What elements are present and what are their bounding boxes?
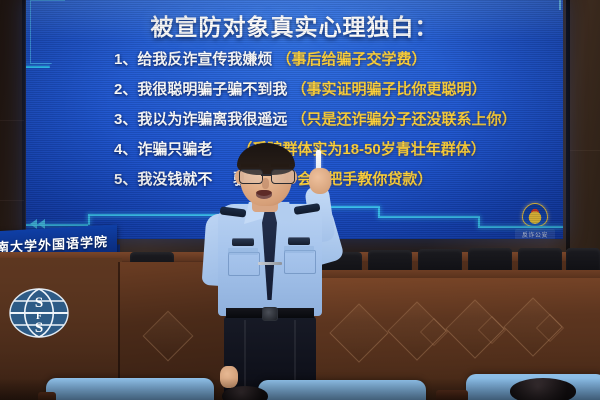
lens-right: [271, 169, 295, 184]
name-badge: [288, 237, 310, 245]
lowered-hand: [220, 366, 238, 388]
audience-seat: [46, 378, 214, 400]
chest-badge: [232, 238, 254, 246]
photo-scene: 被宣防对象真实心理独白： 1、给我反诈宣传我嫌烦 （事后给骗子交学费） 2、我很…: [0, 0, 600, 400]
wall-seam-left: [22, 0, 25, 262]
sfs-globe-logo: S F S: [8, 284, 70, 342]
shirt-pocket-left: [228, 252, 260, 276]
svg-text:S: S: [35, 320, 43, 336]
seat-armrest: [38, 392, 56, 400]
audience-seat: [258, 380, 426, 400]
audience-head-silhouette: [510, 378, 576, 400]
belt-buckle-icon: [262, 307, 278, 321]
wall-panel-line-3: [570, 150, 600, 151]
eyebrow-right: [271, 164, 289, 167]
glasses-bridge: [261, 174, 271, 176]
audience-head-silhouette: [222, 386, 268, 400]
raised-hand: [309, 168, 331, 194]
mouth-speaking: [256, 190, 272, 199]
seat-armrest: [436, 390, 468, 400]
wall-seam-right: [566, 0, 570, 250]
pocket-flap-right: [284, 246, 314, 253]
svg-text:S: S: [35, 295, 43, 311]
shirt-pocket-right: [284, 250, 316, 274]
tie-clip: [258, 262, 282, 265]
speaker-police-officer: [196, 138, 346, 400]
wall-panel-line-1: [0, 120, 24, 121]
nose: [262, 178, 269, 189]
pocket-flap-left: [228, 248, 258, 255]
wall-panel-line-2: [0, 200, 24, 201]
eyebrow-left: [241, 164, 259, 167]
lens-left: [239, 169, 263, 184]
